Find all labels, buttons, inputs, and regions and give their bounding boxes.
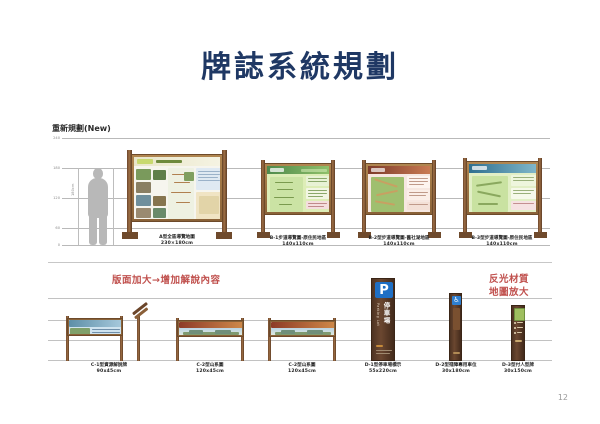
sign-D3-caption: D-3型付人型牌 30x150cm [448,363,588,375]
section-label: 重新規劃(New) [52,123,111,134]
lower-gridline-1 [48,298,552,299]
gridline-60 [62,228,550,229]
sign-C1-panel[interactable] [67,318,123,336]
sign-B2-board[interactable] [365,163,433,215]
sign-D3-dimension: 30x150cm [448,369,588,375]
sign-C2a-panel[interactable] [177,320,244,337]
sign-A-caption: A型全區導覽地圖 230×180cm [107,235,247,247]
sign-D3-map-panel [514,308,525,321]
tick-0: 0 [48,243,60,247]
human-silhouette [85,168,111,245]
section-divider [48,262,552,263]
sign-B3-caption: B-3型步道導覽圖-原住民地區 140x110cm [432,236,572,248]
sign-B3-dimension: 140x110cm [432,242,572,248]
sign-C2b-panel[interactable] [269,320,336,337]
lower-gridline-3 [48,340,552,341]
human-scale-rule-right [113,168,114,245]
sign-B3-board[interactable] [466,161,539,215]
tick-120: 120 [48,196,60,200]
lower-gridline-4 [48,360,552,361]
tick-180: 180 [48,166,60,170]
human-scale-rule-left [78,168,79,245]
parking-p-icon: P [375,282,393,298]
sign-A-dimension: 230×180cm [107,241,247,247]
sign-D2-pylon[interactable]: ♿ [449,293,462,361]
page-number: 12 [558,393,568,402]
wheelchair-icon: ♿ [452,296,461,305]
page-title: 牌誌系統規劃 [0,42,600,86]
sign-D1-pylon[interactable]: P 停車場 Parking Lot [371,278,395,361]
parking-label-zh: 停車場 [381,302,391,325]
gridline-240 [62,138,550,139]
parking-label-en: Parking Lot [376,303,380,326]
sign-C1-alt-post [137,316,140,361]
sign-D3-pylon[interactable] [511,305,525,361]
annotation-right-line1: 反光材質 [489,274,529,286]
annotation-left: 版面加大→增加解說內容 [112,275,220,287]
sign-B1-board[interactable] [264,163,332,215]
sign-A-board[interactable] [131,154,223,222]
slide-canvas: 牌誌系統規劃 重新規劃(New) 240 180 120 60 0 180cm [0,0,600,424]
tick-60: 60 [48,226,60,230]
tick-240: 240 [48,136,60,140]
human-height-label: 180cm [71,184,75,196]
